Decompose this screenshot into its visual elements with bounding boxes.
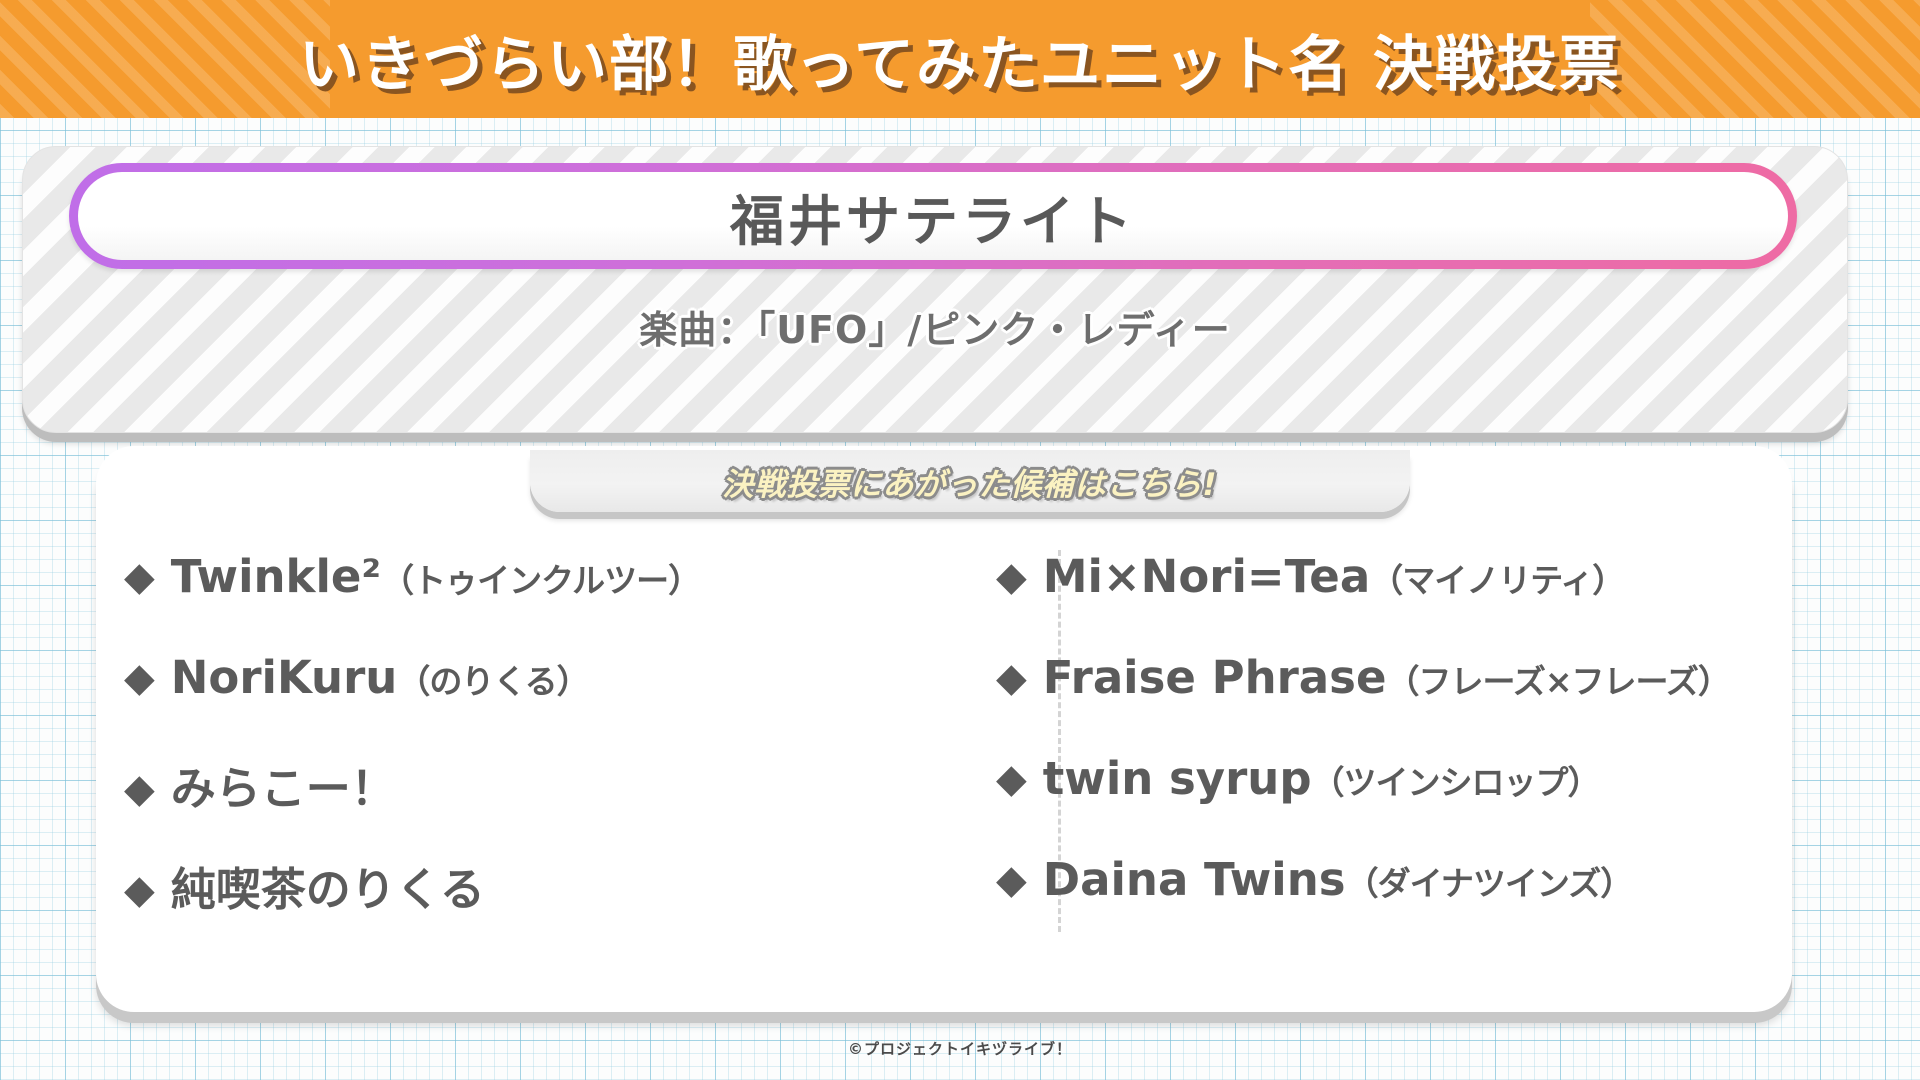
diamond-bullet-icon: ◆	[996, 860, 1027, 900]
diamond-bullet-icon: ◆	[124, 658, 155, 698]
candidates-column-right: ◆ Mi×Nori=Tea （マイノリティ） ◆ Fraise Phrase （…	[996, 550, 1816, 954]
candidate-name: NoriKuru	[171, 651, 398, 704]
list-item[interactable]: ◆ Fraise Phrase （フレーズ×フレーズ）	[996, 651, 1816, 752]
unit-name-label: 福井サテライト	[730, 177, 1136, 256]
candidates-banner-label: 決戦投票にあがった候補はこちら!	[722, 459, 1217, 504]
diamond-bullet-icon: ◆	[996, 658, 1027, 698]
candidate-reading: （ダイナツインズ）	[1346, 857, 1633, 905]
page-title: いきづらい部！歌ってみたユニット名 決戦投票	[0, 0, 1920, 118]
candidate-reading: （のりくる）	[397, 655, 588, 703]
unit-info-panel: 福井サテライト 楽曲：「UFO」/ピンク・レディー	[22, 146, 1848, 433]
list-item[interactable]: ◆ NoriKuru （のりくる）	[124, 651, 944, 752]
candidate-reading: （ツインシロップ）	[1312, 756, 1600, 804]
candidate-name: Daina Twins	[1043, 853, 1346, 906]
candidate-reading: （フレーズ×フレーズ）	[1386, 655, 1729, 703]
candidate-name: Fraise Phrase	[1043, 651, 1387, 704]
candidate-reading: （マイノリティ）	[1370, 554, 1624, 602]
candidates-card: ◆ Twinkle² （トゥインクルツー） ◆ NoriKuru （のりくる） …	[96, 446, 1792, 1012]
list-item[interactable]: ◆ Mi×Nori=Tea （マイノリティ）	[996, 550, 1816, 651]
candidates-column-left: ◆ Twinkle² （トゥインクルツー） ◆ NoriKuru （のりくる） …	[124, 550, 944, 954]
candidate-name: みらこー！	[171, 752, 396, 817]
diamond-bullet-icon: ◆	[124, 557, 155, 597]
unit-name-box-inner: 福井サテライト	[78, 172, 1788, 260]
candidate-name: Mi×Nori=Tea	[1043, 550, 1370, 603]
candidate-name: Twinkle²	[171, 550, 381, 603]
diamond-bullet-icon: ◆	[124, 769, 155, 809]
diamond-bullet-icon: ◆	[124, 870, 155, 910]
candidates-banner: 決戦投票にあがった候補はこちら!	[530, 450, 1410, 512]
candidate-reading: （トゥインクルツー）	[381, 554, 700, 602]
candidate-name: twin syrup	[1043, 752, 1312, 805]
list-item[interactable]: ◆ みらこー！	[124, 752, 944, 853]
list-item[interactable]: ◆ twin syrup （ツインシロップ）	[996, 752, 1816, 853]
list-item[interactable]: ◆ Twinkle² （トゥインクルツー）	[124, 550, 944, 651]
list-item[interactable]: ◆ Daina Twins （ダイナツインズ）	[996, 853, 1816, 954]
diamond-bullet-icon: ◆	[996, 557, 1027, 597]
list-item[interactable]: ◆ 純喫茶のりくる	[124, 853, 944, 954]
header-banner: いきづらい部！歌ってみたユニット名 決戦投票	[0, 0, 1920, 118]
candidate-name: 純喫茶のりくる	[171, 853, 485, 918]
song-row: 楽曲：「UFO」/ピンク・レディー	[23, 281, 1847, 371]
diamond-bullet-icon: ◆	[996, 759, 1027, 799]
copyright-notice: ©プロジェクトイキヅライブ！	[0, 1038, 1920, 1059]
unit-name-box: 福井サテライト	[69, 163, 1797, 269]
song-label: 楽曲：「UFO」/ピンク・レディー	[639, 299, 1231, 354]
